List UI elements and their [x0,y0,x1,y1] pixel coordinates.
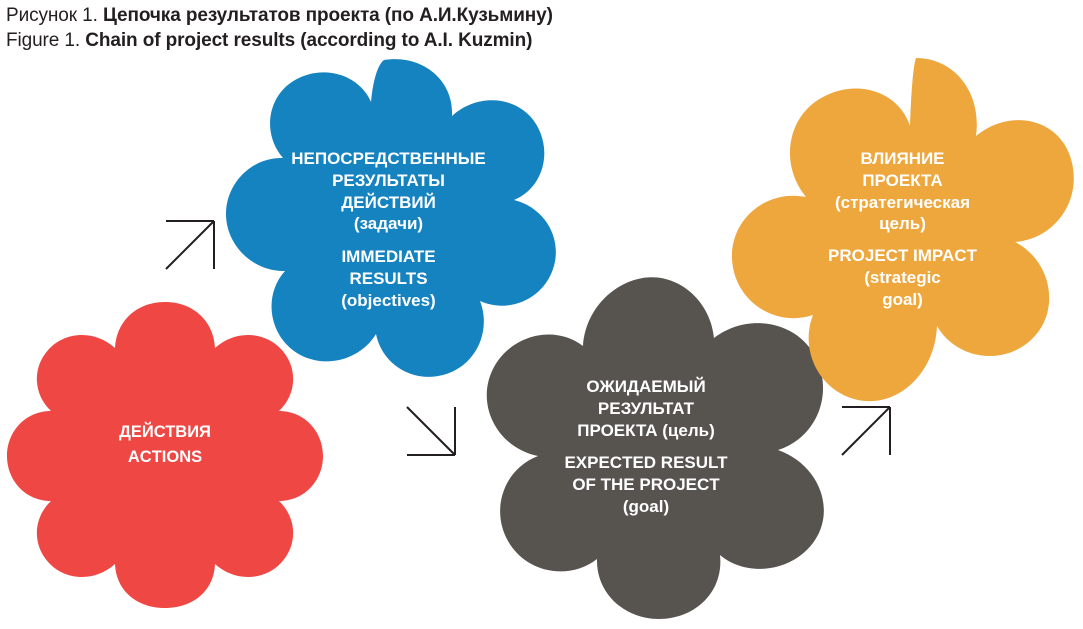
arrow-actions-to-immediate [162,217,218,273]
arrow-shaft [842,407,890,455]
arrow-shaft [166,221,214,269]
caption-russian-title: Цепочка результатов проекта (по А.И.Кузь… [103,5,553,26]
node-project-impact: ВЛИЯНИЕ ПРОЕКТА (стратегическая цель) PR… [730,56,1075,446]
arrow-immediate-to-expected [403,403,459,459]
caption-russian-prefix: Рисунок 1. [6,5,103,26]
figure-container: Рисунок 1. Цепочка результатов проекта (… [0,0,1083,629]
caption-english-prefix: Figure 1. [6,30,85,51]
arrow-expected-to-impact [838,403,894,459]
caption-english-title: Chain of project results (according to A… [85,30,532,51]
node-project-impact-shape [732,58,1074,401]
arrow-shaft [407,407,455,455]
caption-line-english: Figure 1. Chain of project results (acco… [6,29,906,54]
figure-caption: Рисунок 1. Цепочка результатов проекта (… [6,4,906,53]
caption-line-russian: Рисунок 1. Цепочка результатов проекта (… [6,4,906,29]
